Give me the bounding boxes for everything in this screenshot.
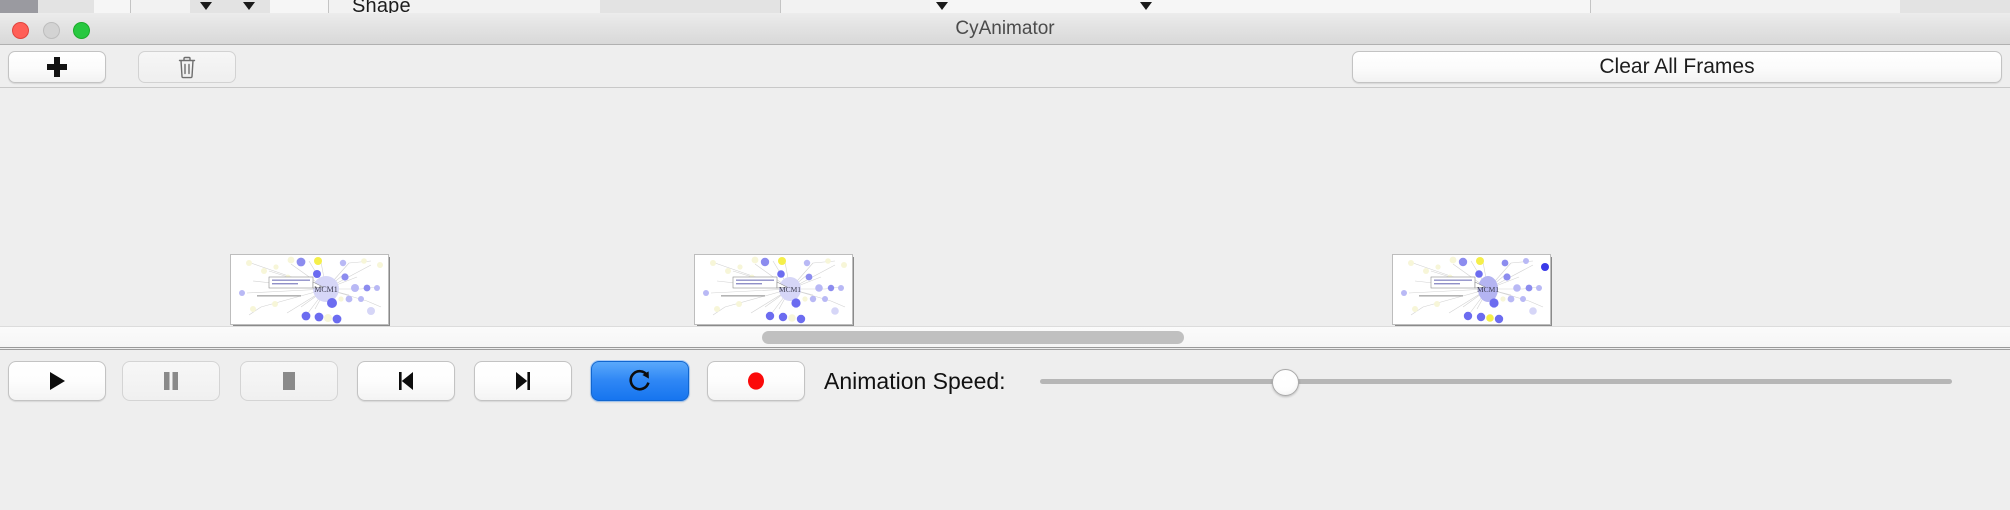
add-frame-button[interactable]	[8, 51, 106, 83]
bg-chip	[600, 0, 781, 13]
bg-chip	[1900, 0, 2010, 13]
frame-thumbnail: MCM1	[1392, 254, 1551, 325]
clear-all-frames-button[interactable]: Clear All Frames	[1352, 51, 2002, 83]
delete-frame-button[interactable]	[138, 51, 236, 83]
play-icon	[46, 370, 68, 392]
animation-speed-label: Animation Speed:	[824, 361, 1006, 401]
bg-chip	[94, 0, 131, 13]
next-frame-button[interactable]	[474, 361, 572, 401]
animation-speed-slider[interactable]	[1040, 379, 1952, 384]
timeline-frame[interactable]: MCM1	[694, 254, 854, 326]
background-window-strip: Shape	[0, 0, 2010, 14]
playback-toolbar: Animation Speed:	[0, 349, 2010, 510]
caret-icon	[243, 2, 255, 10]
previous-frame-button[interactable]	[357, 361, 455, 401]
caret-icon	[936, 2, 948, 10]
play-button[interactable]	[8, 361, 106, 401]
scrollbar-thumb[interactable]	[762, 331, 1184, 344]
bg-chip	[0, 0, 39, 13]
caret-icon	[200, 2, 212, 10]
toolbar: Clear All Frames	[0, 45, 2010, 88]
record-button[interactable]	[707, 361, 805, 401]
svg-text:MCM1: MCM1	[314, 285, 338, 294]
bg-chip	[930, 0, 1591, 13]
horizontal-scrollbar[interactable]	[0, 326, 2010, 348]
timeline-panel[interactable]: MCM1	[0, 88, 2010, 328]
network-graph-thumbnail: MCM1	[1393, 255, 1550, 324]
bg-chip	[270, 0, 329, 13]
svg-text:MCM1: MCM1	[779, 285, 801, 294]
pause-button[interactable]	[122, 361, 220, 401]
stop-button[interactable]	[240, 361, 338, 401]
skip-forward-icon	[512, 370, 534, 392]
background-window-label: Shape	[352, 0, 411, 14]
stop-icon	[279, 370, 299, 392]
animation-speed-knob[interactable]	[1272, 369, 1299, 396]
svg-text:MCM1: MCM1	[1477, 285, 1499, 294]
network-graph-thumbnail: MCM1	[695, 255, 852, 324]
trash-icon	[177, 55, 197, 79]
caret-icon	[1140, 2, 1152, 10]
skip-backward-icon	[395, 370, 417, 392]
frame-thumbnail: MCM1	[230, 254, 389, 325]
loop-icon	[627, 368, 653, 394]
title-bar: CyAnimator	[0, 13, 2010, 45]
frame-thumbnail: MCM1	[694, 254, 853, 325]
clear-all-frames-label: Clear All Frames	[1599, 55, 1754, 79]
network-graph-thumbnail: MCM1	[231, 255, 388, 324]
bg-chip	[38, 0, 95, 13]
record-icon	[745, 370, 767, 392]
loop-button[interactable]	[591, 361, 689, 401]
window-title: CyAnimator	[0, 13, 2010, 45]
plus-icon	[47, 57, 67, 77]
pause-icon	[161, 370, 181, 392]
timeline-frame[interactable]: MCM1	[1392, 254, 1552, 326]
cyanimator-window: Shape CyAnimator Clear All Frames	[0, 0, 2010, 510]
timeline-frame[interactable]: MCM1	[230, 254, 390, 326]
